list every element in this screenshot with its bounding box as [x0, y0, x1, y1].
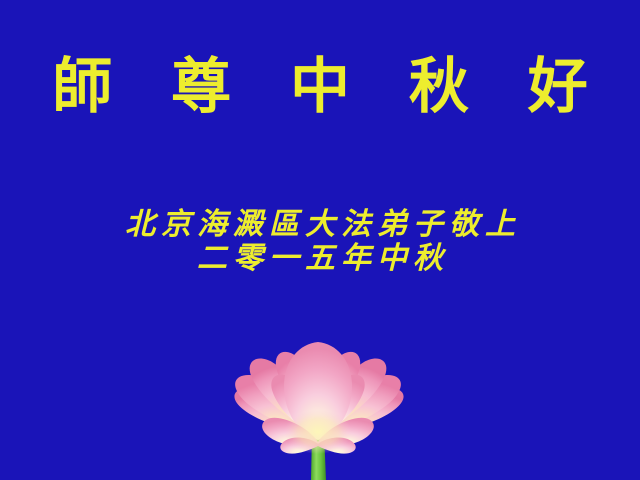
- greeting-card: 師 尊 中 秋 好 北京海澱區大法弟子敬上 二零一五年中秋: [0, 0, 640, 480]
- signature-block: 北京海澱區大法弟子敬上 二零一五年中秋: [0, 208, 640, 276]
- signature-line-sender: 北京海澱區大法弟子敬上: [0, 208, 640, 242]
- headline-text: 師 尊 中 秋 好: [0, 52, 640, 122]
- signature-line-date: 二零一五年中秋: [0, 242, 640, 276]
- text-layer: 師 尊 中 秋 好 北京海澱區大法弟子敬上 二零一五年中秋: [0, 0, 640, 480]
